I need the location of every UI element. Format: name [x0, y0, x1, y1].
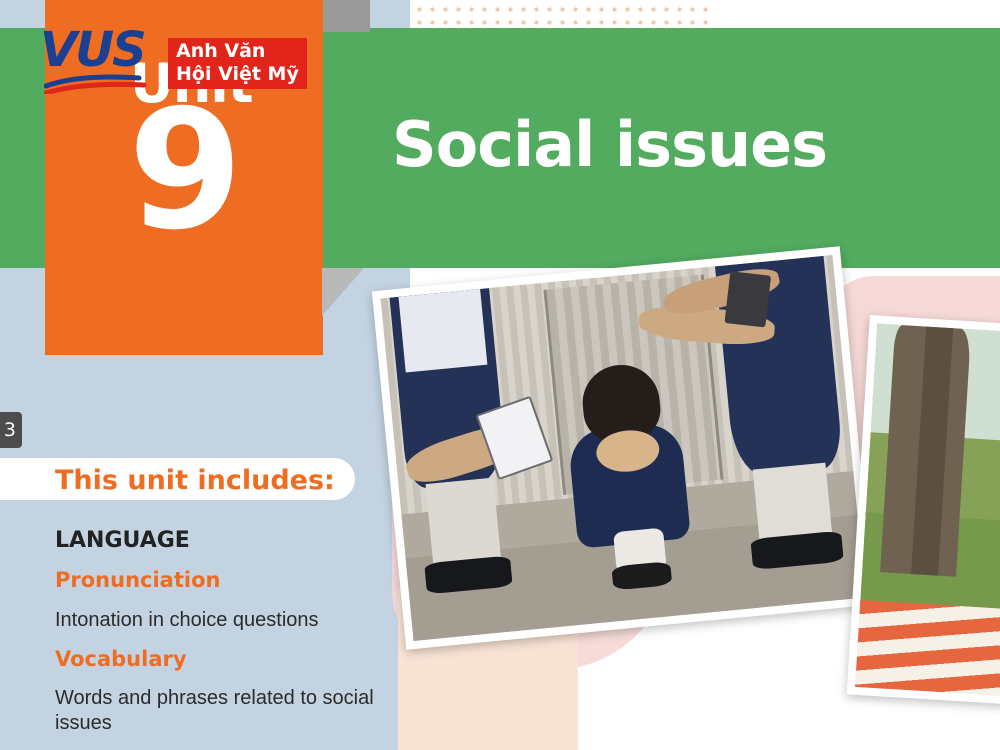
unit-title: Social issues	[392, 108, 827, 181]
photo-outdoor	[847, 315, 1000, 709]
subsection-vocabulary-text: Words and phrases related to social issu…	[55, 686, 385, 736]
vus-logo: VUS Anh Văn Hội Việt Mỹ	[40, 22, 330, 102]
unit-number: 9	[128, 88, 243, 253]
logo-tagline-box: Anh Văn Hội Việt Mỹ	[168, 38, 307, 89]
scene-student-left-blouse	[399, 289, 488, 372]
page-number-text: 3	[4, 419, 16, 441]
logo-swoosh-icon	[44, 72, 164, 94]
logo-tagline-line2: Hội Việt Mỹ	[176, 63, 299, 86]
subsection-pronunciation-label: Pronunciation	[55, 568, 220, 592]
scene-picnic-blanket	[855, 599, 1000, 701]
textbook-unit-page: Unit 9 VUS Anh Văn Hội Việt Mỹ Social is…	[0, 0, 1000, 750]
logo-brand-text: VUS	[40, 22, 145, 78]
photo-outdoor-scene	[855, 324, 1000, 701]
subsection-pronunciation-text: Intonation in choice questions	[55, 608, 385, 633]
includes-heading: This unit includes:	[55, 465, 335, 496]
photo-bullying	[372, 246, 874, 649]
logo-tagline-line1: Anh Văn	[176, 40, 299, 63]
photo-outdoor-image	[855, 324, 1000, 701]
subsection-vocabulary-label: Vocabulary	[55, 647, 187, 671]
section-heading-language: LANGUAGE	[55, 528, 190, 553]
photo-bullying-image	[381, 255, 866, 641]
page-number-chip: 3	[0, 412, 22, 448]
photo-bullying-scene	[381, 255, 866, 641]
scene-phone-right	[725, 272, 771, 328]
